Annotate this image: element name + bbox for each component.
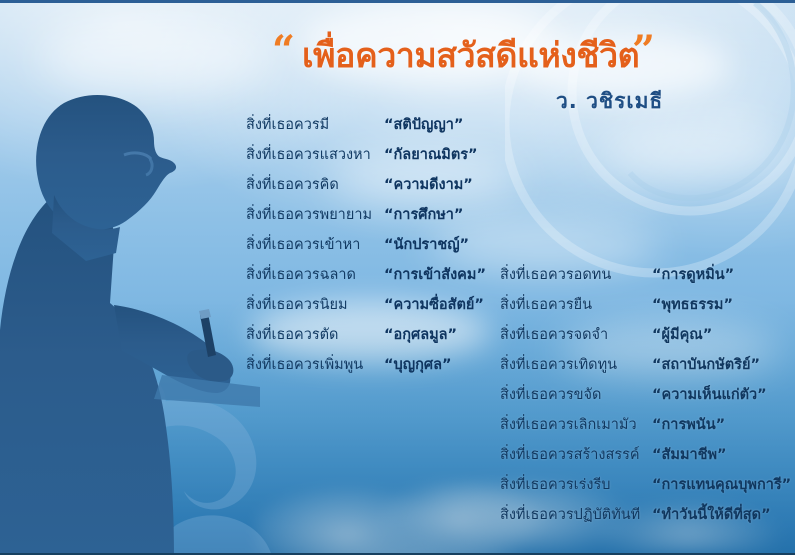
aphorism-row: สิ่งที่เธอควรเลิกเมามัว “การพนัน” [500, 413, 795, 443]
aphorism-label: สิ่งที่เธอควรแสวงหา [246, 143, 384, 166]
aphorism-row: สิ่งที่เธอควรฉลาด “การเข้าสังคม” [246, 263, 506, 293]
open-quote-mark: “ [272, 31, 293, 71]
aphorism-row: สิ่งที่เธอควรสร้างสรรค์ “สัมมาชีพ” [500, 443, 795, 473]
aphorism-row: สิ่งที่เธอควรขจัด “ความเห็นแก่ตัว” [500, 383, 795, 413]
aphorism-row: สิ่งที่เธอควรอดทน “การดูหมิ่น” [500, 263, 795, 293]
aphorism-value: “นักปราชญ์” [384, 233, 469, 256]
aphorism-value: “อกุศลมูล” [384, 323, 457, 346]
aphorism-value: “กัลยาณมิตร” [384, 143, 478, 166]
aphorism-label: สิ่งที่เธอควรสร้างสรรค์ [500, 443, 652, 466]
aphorism-value: “สัมมาชีพ” [652, 443, 727, 466]
aphorism-label: สิ่งที่เธอควรเร่งรีบ [500, 473, 652, 496]
aphorism-row: สิ่งที่เธอควรจดจำ “ผู้มีคุณ” [500, 323, 795, 353]
aphorism-label: สิ่งที่เธอควรคิด [246, 173, 384, 196]
aphorism-label: สิ่งที่เธอควรขจัด [500, 383, 652, 406]
aphorism-value: “ผู้มีคุณ” [652, 323, 712, 346]
aphorism-row: สิ่งที่เธอควรตัด “อกุศลมูล” [246, 323, 506, 353]
aphorism-row: สิ่งที่เธอควรเพิ่มพูน “บุญกุศล” [246, 353, 506, 383]
aphorism-value: “การดูหมิ่น” [652, 263, 734, 286]
aphorism-label: สิ่งที่เธอควรเข้าหา [246, 233, 384, 256]
aphorism-value: “การเข้าสังคม” [384, 263, 486, 286]
headline: “ เพื่อความสวัสดีแห่งชีวิต ” [272, 29, 692, 85]
aphorism-value: “ความซื่อสัตย์” [384, 293, 484, 316]
aphorism-value: “ความเห็นแก่ตัว” [652, 383, 767, 406]
aphorism-label: สิ่งที่เธอควรเลิกเมามัว [500, 413, 652, 436]
aphorism-row: สิ่งที่เธอควรนิยม “ความซื่อสัตย์” [246, 293, 506, 323]
aphorism-row: สิ่งที่เธอควรมี “สติปัญญา” [246, 113, 506, 143]
aphorism-value: “สถาบันกษัตริย์” [652, 353, 760, 376]
aphorism-label: สิ่งที่เธอควรเพิ่มพูน [246, 353, 384, 376]
aphorism-label: สิ่งที่เธอควรพยายาม [246, 203, 384, 226]
close-quote-mark: ” [632, 31, 653, 71]
aphorism-value: “การพนัน” [652, 413, 725, 436]
aphorism-label: สิ่งที่เธอควรปฏิบัติทันที [500, 503, 652, 526]
aphorism-label: สิ่งที่เธอควรจดจำ [500, 323, 652, 346]
aphorism-value: “การแทนคุณบุพการี” [652, 473, 791, 496]
author-name: ว. วชิรเมธี [556, 85, 663, 118]
aphorism-row: สิ่งที่เธอควรเข้าหา “นักปราชญ์” [246, 233, 506, 263]
aphorism-column-left: สิ่งที่เธอควรมี “สติปัญญา” สิ่งที่เธอควร… [246, 113, 506, 383]
aphorism-label: สิ่งที่เธอควรเทิดทูน [500, 353, 652, 376]
aphorism-label: สิ่งที่เธอควรนิยม [246, 293, 384, 316]
aphorism-value: “สติปัญญา” [384, 113, 463, 136]
aphorism-label: สิ่งที่เธอควรอดทน [500, 263, 652, 286]
aphorism-label: สิ่งที่เธอควรยืน [500, 293, 652, 316]
aphorism-label: สิ่งที่เธอควรตัด [246, 323, 384, 346]
aphorism-value: “ความดีงาม” [384, 173, 473, 196]
aphorism-label: สิ่งที่เธอควรมี [246, 113, 384, 136]
aphorism-row: สิ่งที่เธอควรเร่งรีบ “การแทนคุณบุพการี” [500, 473, 795, 503]
aphorism-row: สิ่งที่เธอควรเทิดทูน “สถาบันกษัตริย์” [500, 353, 795, 383]
aphorism-value: “การศึกษา” [384, 203, 463, 226]
aphorism-value: “บุญกุศล” [384, 353, 452, 376]
aphorism-row: สิ่งที่เธอควรพยายาม “การศึกษา” [246, 203, 506, 233]
page-title: เพื่อความสวัสดีแห่งชีวิต [302, 39, 639, 73]
aphorism-column-right: สิ่งที่เธอควรอดทน “การดูหมิ่น” สิ่งที่เธ… [500, 263, 795, 533]
aphorism-row: สิ่งที่เธอควรปฏิบัติทันที “ทำวันนี้ให้ดี… [500, 503, 795, 533]
aphorism-row: สิ่งที่เธอควรยืน “พุทธธรรม” [500, 293, 795, 323]
poster-canvas: “ เพื่อความสวัสดีแห่งชีวิต ” ว. วชิรเมธี… [0, 0, 795, 555]
aphorism-value: “พุทธธรรม” [652, 293, 733, 316]
aphorism-row: สิ่งที่เธอควรแสวงหา “กัลยาณมิตร” [246, 143, 506, 173]
aphorism-label: สิ่งที่เธอควรฉลาด [246, 263, 384, 286]
aphorism-row: สิ่งที่เธอควรคิด “ความดีงาม” [246, 173, 506, 203]
aphorism-value: “ทำวันนี้ให้ดีที่สุด” [652, 503, 771, 526]
